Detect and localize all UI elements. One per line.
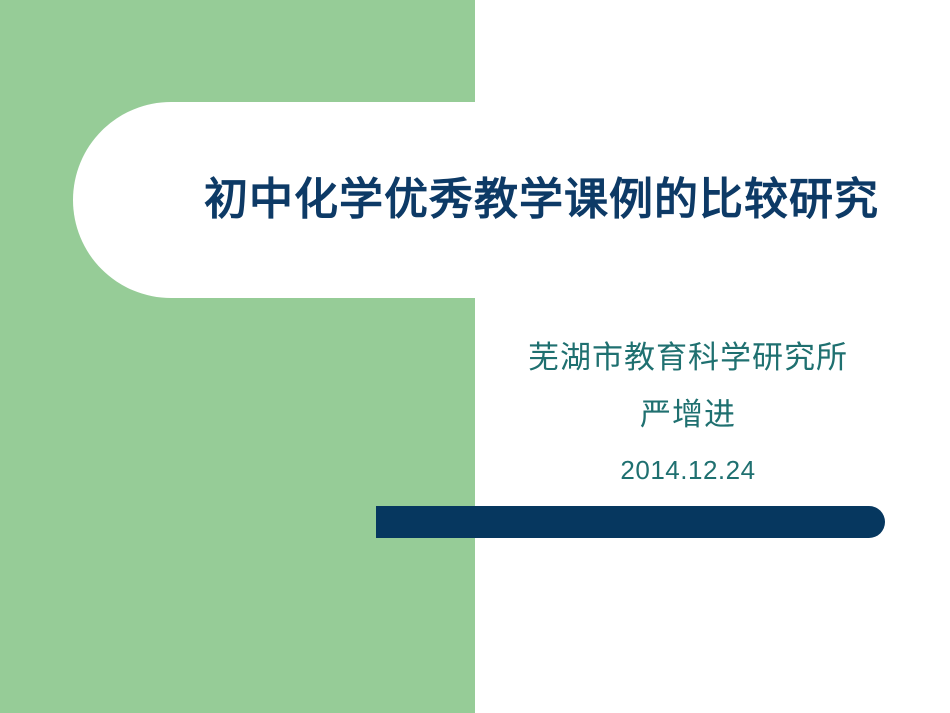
slide-title: 初中化学优秀教学课例的比较研究 bbox=[73, 102, 950, 298]
accent-bar-shape bbox=[376, 506, 885, 538]
subtitle-organization: 芜湖市教育科学研究所 bbox=[478, 336, 898, 381]
subtitle-block: 芜湖市教育科学研究所 严增进 2014.12.24 bbox=[478, 336, 898, 488]
slide-title-text: 初中化学优秀教学课例的比较研究 bbox=[204, 174, 879, 227]
presentation-slide: 初中化学优秀教学课例的比较研究 芜湖市教育科学研究所 严增进 2014.12.2… bbox=[0, 0, 950, 713]
subtitle-date: 2014.12.24 bbox=[478, 452, 898, 488]
subtitle-author: 严增进 bbox=[478, 393, 898, 438]
